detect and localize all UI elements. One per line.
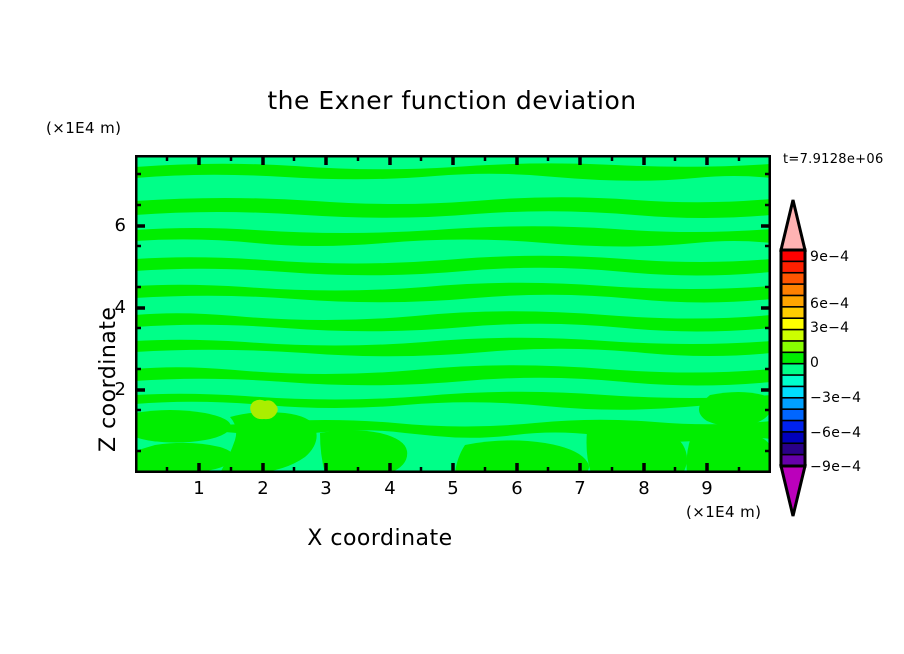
chart-title: the Exner function deviation — [0, 86, 904, 115]
x-tick-label: 2 — [248, 478, 278, 499]
x-axis-unit-label: (×1E4 m) — [686, 503, 761, 521]
x-tick-label: 6 — [502, 478, 532, 499]
colorbar-band — [781, 307, 805, 319]
colorbar[interactable] — [776, 198, 810, 518]
y-axis-unit-label: (×1E4 m) — [46, 119, 121, 137]
x-tick-label: 8 — [629, 478, 659, 499]
colorbar-band — [781, 284, 805, 296]
x-axis-title: X coordinate — [0, 526, 760, 551]
x-tick-label: 7 — [565, 478, 595, 499]
positive-value-blob — [250, 400, 278, 419]
colorbar-band — [781, 352, 805, 364]
colorbar-band — [781, 409, 805, 421]
colorbar-band — [781, 341, 805, 353]
colorbar-tick-label: −9e−4 — [810, 459, 861, 475]
x-tick-label: 4 — [375, 478, 405, 499]
x-tick-label: 9 — [692, 478, 722, 499]
colorbar-band — [781, 386, 805, 398]
y-tick-label: 6 — [98, 215, 126, 236]
colorbar-band — [781, 432, 805, 444]
colorbar-band — [781, 318, 805, 330]
colorbar-tick-label: 0 — [810, 355, 819, 371]
colorbar-under-arrow — [781, 466, 805, 516]
colorbar-over-arrow — [781, 200, 805, 250]
colorbar-band — [781, 250, 805, 262]
colorbar-band — [781, 261, 805, 273]
x-tick-label: 3 — [311, 478, 341, 499]
y-tick-label: 2 — [98, 379, 126, 400]
colorbar-band — [781, 273, 805, 285]
field-contour-bands — [135, 155, 771, 400]
colorbar-band — [781, 295, 805, 307]
figure-canvas: the Exner function deviation (×1E4 m) t=… — [0, 0, 904, 654]
y-tick-label: 4 — [98, 297, 126, 318]
contour-field — [135, 155, 771, 473]
x-tick-label: 5 — [438, 478, 468, 499]
colorbar-tick-label: 6e−4 — [810, 296, 849, 312]
colorbar-swatches — [776, 198, 810, 518]
colorbar-band — [781, 443, 805, 455]
colorbar-band-group — [781, 250, 805, 467]
colorbar-band — [781, 375, 805, 387]
contour-plot-area — [135, 155, 771, 473]
colorbar-tick-label: 3e−4 — [810, 320, 849, 336]
colorbar-band — [781, 421, 805, 433]
colorbar-band — [781, 330, 805, 342]
time-annotation: t=7.9128e+06 — [783, 152, 884, 167]
colorbar-tick-label: 9e−4 — [810, 249, 849, 265]
colorbar-tick-label: −3e−4 — [810, 390, 861, 406]
colorbar-band — [781, 398, 805, 410]
colorbar-band — [781, 364, 805, 376]
colorbar-tick-label: −6e−4 — [810, 425, 861, 441]
x-tick-label: 1 — [184, 478, 214, 499]
